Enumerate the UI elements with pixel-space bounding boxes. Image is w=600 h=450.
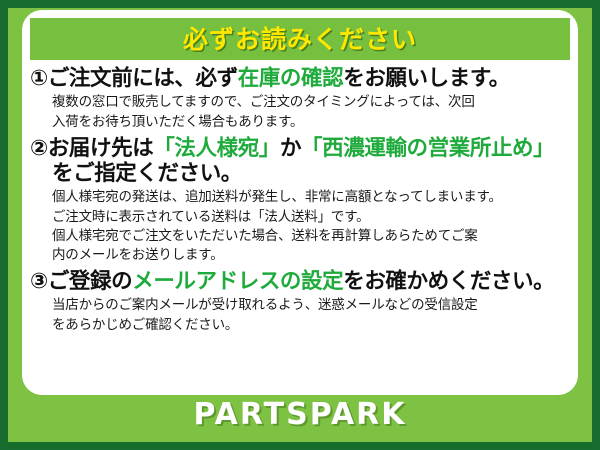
section-3-body: 当店からのご案内メールが受け取れるよう、迷惑メールなどの受信設定 をあらかじめご… [52,296,570,334]
section-1-body: 複数の窓口で販売してますので、ご注文のタイミングによっては、次回 入荷をお待ち頂… [52,93,570,131]
section-3-heading-highlight: メールアドレスの設定 [132,269,343,294]
section-3-heading: ③ご登録のメールアドレスの設定をお確かめください。 [30,269,570,294]
section-2-number: ② [30,136,48,161]
notice-banner: 必ずお読みください ①ご注文前には、必ず在庫の確認をお願いします。 複数の窓口で… [0,0,600,450]
section-1-heading-highlight: 在庫の確認 [238,66,344,91]
section-1-heading-part-3: をお願いします。 [343,66,510,91]
footer: PARTSPARK [8,387,592,442]
section-2-heading: ②お届け先は「法人様宛」か「西濃運輸の営業所止め」 [30,136,570,161]
section-3-number: ③ [30,269,48,294]
brand-logo: PARTSPARK [193,400,406,430]
section-2-heading-part-3: か [280,136,301,161]
section-2-heading-highlight-2: 「西濃運輸の営業所止め」 [301,136,554,161]
notice-content: ①ご注文前には、必ず在庫の確認をお願いします。 複数の窓口で販売してますので、ご… [30,66,570,339]
section-2-heading-highlight-1: 「法人様宛」 [153,136,280,161]
section-3-heading-part-3: をお確かめください。 [343,269,554,294]
page-title: 必ずお読みください [183,27,417,52]
notice-card: 必ずお読みください ①ご注文前には、必ず在庫の確認をお願いします。 複数の窓口で… [22,10,578,395]
section-2-heading-line2: をご指定ください。 [52,161,570,186]
section-1-number: ① [30,66,48,91]
notice-section-3: ③ご登録のメールアドレスの設定をお確かめください。 当店からのご案内メールが受け… [30,269,570,335]
section-2-body: 個人様宅宛の発送は、追加送料が発生し、非常に高額となってしまいます。 ご注文時に… [52,188,570,265]
section-1-heading-part-1: ご注文前には、必ず [48,66,238,91]
notice-section-1: ①ご注文前には、必ず在庫の確認をお願いします。 複数の窓口で販売してますので、ご… [30,66,570,132]
section-1-heading: ①ご注文前には、必ず在庫の確認をお願いします。 [30,66,570,91]
section-2-heading-part-1: お届け先は [48,136,154,161]
notice-section-2: ②お届け先は「法人様宛」か「西濃運輸の営業所止め」 をご指定ください。 個人様宅… [30,136,570,265]
section-3-heading-part-1: ご登録の [48,269,132,294]
header-band: 必ずお読みください [30,18,570,60]
